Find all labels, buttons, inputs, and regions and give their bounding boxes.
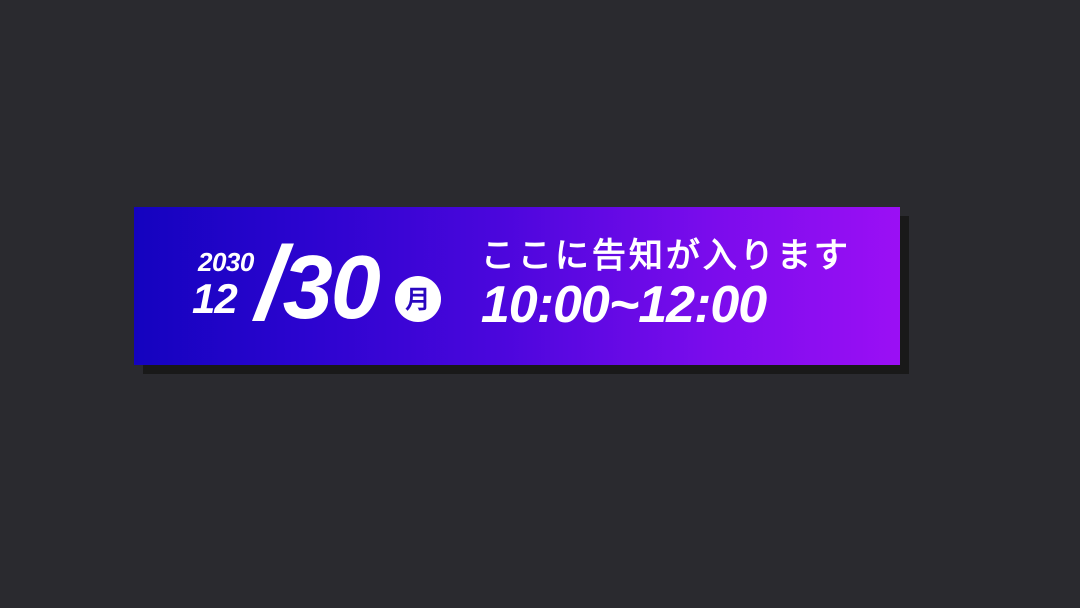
- month-label: 12: [192, 278, 237, 320]
- canvas: 2030 12 / 30 月 ここに告知が入ります 10:00~12:00: [0, 0, 1080, 608]
- notice-headline: ここに告知が入ります: [481, 238, 851, 275]
- info-block: ここに告知が入ります 10:00~12:00: [481, 238, 851, 335]
- time-range-label: 10:00~12:00: [481, 277, 851, 334]
- date-block: 2030 12 / 30 月: [192, 234, 441, 338]
- day-label: 30: [283, 243, 379, 333]
- date-separator-slash: /: [256, 232, 285, 336]
- year-month-stack: 2030 12: [192, 249, 254, 320]
- weekday-badge-label: 月: [405, 287, 430, 312]
- event-announcement-banner[interactable]: 2030 12 / 30 月 ここに告知が入ります 10:00~12:00: [134, 207, 900, 365]
- weekday-badge: 月: [395, 276, 441, 322]
- year-label: 2030: [198, 249, 254, 275]
